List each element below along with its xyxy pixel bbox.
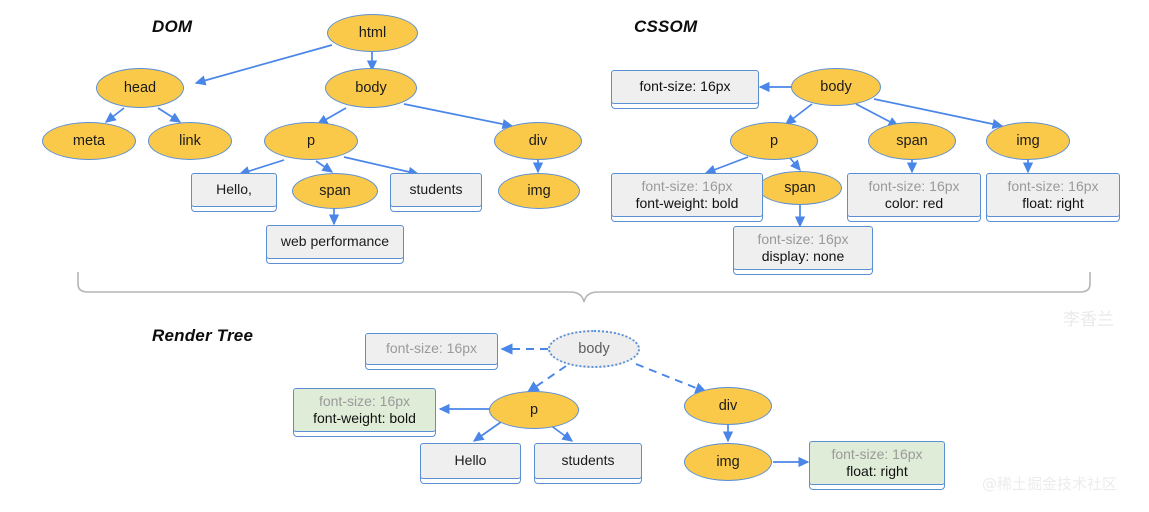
render-text-hello-label: Hello xyxy=(455,452,487,470)
cssom-node-body[interactable]: body xyxy=(791,68,881,106)
dom-node-meta[interactable]: meta xyxy=(42,122,136,160)
cssom-node-span[interactable]: span xyxy=(868,122,956,160)
dom-node-body[interactable]: body xyxy=(325,68,417,108)
dom-text-hello-label: Hello, xyxy=(216,181,252,199)
render-rule-p-line2: font-weight: bold xyxy=(313,410,416,428)
dom-text-hello: Hello, xyxy=(191,173,277,207)
render-node-div[interactable]: div xyxy=(684,387,772,425)
render-rule-img-line1: font-size: 16px xyxy=(831,446,922,464)
render-rule-img-line2: float: right xyxy=(846,463,907,481)
render-node-img[interactable]: img xyxy=(684,443,772,481)
cssom-rule-p-span-line2: display: none xyxy=(762,248,845,266)
dom-node-html[interactable]: html xyxy=(327,14,418,52)
dom-node-p[interactable]: p xyxy=(264,122,358,160)
watermark-bottom-right: @稀土掘金技术社区 xyxy=(982,473,1117,494)
cssom-rule-p-span-line1: font-size: 16px xyxy=(757,231,848,249)
cssom-rule-p: font-size: 16px font-weight: bold xyxy=(611,173,763,217)
render-rule-body: font-size: 16px xyxy=(365,333,498,365)
render-node-p[interactable]: p xyxy=(489,391,579,429)
dom-text-students: students xyxy=(390,173,482,207)
cssom-rule-body: font-size: 16px xyxy=(611,70,759,104)
cssom-rule-img-line2: float: right xyxy=(1022,195,1083,213)
render-node-body[interactable]: body xyxy=(548,330,640,368)
dom-node-head[interactable]: head xyxy=(96,68,184,108)
watermark-right: 李香兰 xyxy=(1063,305,1114,330)
render-rule-p: font-size: 16px font-weight: bold xyxy=(293,388,436,432)
cssom-rule-body-line1: font-size: 16px xyxy=(639,78,730,96)
cssom-rule-img-line1: font-size: 16px xyxy=(1007,178,1098,196)
cssom-node-p-span[interactable]: span xyxy=(758,171,842,205)
section-label-dom: DOM xyxy=(152,17,192,37)
dom-text-web-performance: web performance xyxy=(266,225,404,259)
grouping-brace xyxy=(78,272,1090,302)
cssom-rule-span-line1: font-size: 16px xyxy=(868,178,959,196)
cssom-rule-p-line2: font-weight: bold xyxy=(636,195,739,213)
render-rule-img: font-size: 16px float: right xyxy=(809,441,945,485)
render-text-students-label: students xyxy=(562,452,615,470)
dom-node-img[interactable]: img xyxy=(498,173,580,209)
dom-node-div[interactable]: div xyxy=(494,122,582,160)
cssom-rule-span-line2: color: red xyxy=(885,195,943,213)
cssom-node-img[interactable]: img xyxy=(986,122,1070,160)
cssom-rule-p-span: font-size: 16px display: none xyxy=(733,226,873,270)
render-text-students: students xyxy=(534,443,642,479)
render-rule-body-line1: font-size: 16px xyxy=(386,340,477,358)
dom-node-link[interactable]: link xyxy=(148,122,232,160)
dom-text-students-label: students xyxy=(410,181,463,199)
dom-node-span[interactable]: span xyxy=(292,173,378,209)
cssom-node-p[interactable]: p xyxy=(730,122,818,160)
cssom-rule-img: font-size: 16px float: right xyxy=(986,173,1120,217)
cssom-rule-span: font-size: 16px color: red xyxy=(847,173,981,217)
section-label-render-tree: Render Tree xyxy=(152,326,253,346)
render-rule-p-line1: font-size: 16px xyxy=(319,393,410,411)
render-text-hello: Hello xyxy=(420,443,521,479)
dom-text-web-performance-label: web performance xyxy=(281,233,389,251)
section-label-cssom: CSSOM xyxy=(634,17,697,37)
cssom-rule-p-line1: font-size: 16px xyxy=(641,178,732,196)
diagram-canvas: DOM CSSOM Render Tree html head body met… xyxy=(0,0,1149,512)
